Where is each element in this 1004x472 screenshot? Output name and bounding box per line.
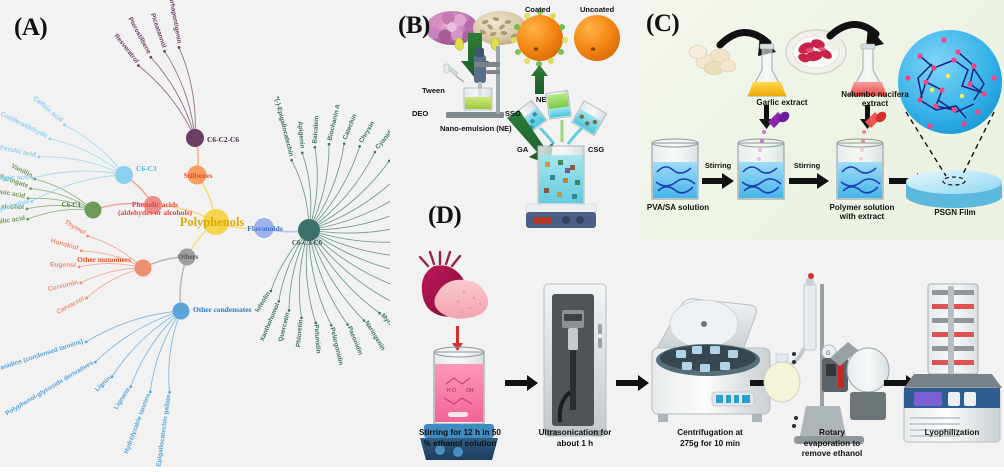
graph-leaf-label: Sinapic acid [0,174,30,182]
panel-a: (A) VanillinSyringateProtocatechuic acid… [0,0,390,467]
panel-a-graph [0,0,390,467]
label-nelumbo-extract: Nelumbo nucifera extract [826,90,924,108]
stirring-arrow-1-icon [702,173,734,189]
figure-root: (A) VanillinSyringateProtocatechuic acid… [0,0,1004,467]
panel-d: (D) [390,240,1004,467]
label-tween: Tween [422,86,445,95]
label-garlic-extract: Garlic extract [737,98,827,107]
label-ne: NE [536,95,546,104]
label-stirring-2: Stirring [788,162,826,171]
label-nano-emulsion: Nano-emulsion (NE) [440,124,512,133]
step-caption-4: Rotary evaporation to remove ethanol [780,428,884,460]
label-sso: SSO [505,109,521,118]
graph-node-label: C6-C3 [136,164,157,173]
graph-node-label: Other condensates [193,305,251,314]
nelumbo-icon [786,30,846,74]
label-pva-sa-solution: PVA/SA solution [638,203,718,212]
label-stirring-1: Stirring [699,162,737,171]
label-coated: Coated [525,5,550,14]
graph-leaf-label: Eugenol [50,262,76,269]
panel-c-tag: (C) [646,10,679,38]
graph-node-label: Phenolic acids (aldehydes or alcohols) [118,201,192,217]
label-polymer-solution: Polymer solution with extract [818,203,906,221]
garlic-mix-beaker-icon [738,139,784,199]
psgn-film-icon [906,170,1002,208]
label-deo: DEO [412,109,428,118]
svg-text:H O: H O [447,388,456,394]
uncoated-fruit-icon [574,15,620,61]
ne-beaker-icon [546,90,571,119]
step-caption-1: Stirring for 12 h in 50 % ethanol soluti… [396,428,524,449]
step-arrow-1-icon [505,375,538,391]
panel-b-tag: (B) [398,12,430,40]
graph-node-label: C6-C1 [62,201,81,209]
rotary-evaporator-icon: G [764,273,889,444]
step-caption-5: Lyophilization [904,428,1000,439]
network-zoom-icon [898,30,1002,134]
svg-text:G: G [826,351,831,357]
label-ga: GA [517,145,528,154]
svg-text:OH: OH [466,388,474,394]
graph-node-label: C6-C3-C6 [292,239,322,247]
stirring-arrow-2-icon [789,173,829,189]
garlic-flask-icon [748,44,786,96]
graph-node-label: Other monomers [77,255,131,264]
graph-node-label: Stilbenes [183,171,212,180]
step-arrow-2-icon [616,375,649,391]
panel-c: (C) [638,0,1004,240]
label-csg: CSG [588,145,604,154]
polymer-beaker-icon [837,139,883,199]
label-psgn-film: PSGN Film [922,208,988,217]
panel-d-tag: (D) [428,202,461,230]
deo-droplet-icon [455,38,464,50]
nelumbo-flask-icon [849,44,887,96]
ne-arrow-icon [531,65,548,94]
pva-sa-beaker-icon [652,139,698,199]
graph-node-label: Others [178,253,199,261]
centrifuge-icon [652,299,770,422]
label-uncoated: Uncoated [580,5,614,14]
step-caption-3: Centrifugation at 275g for 10 min [648,428,772,449]
graph-root-label: Polyphenols [180,215,245,230]
beetroot-icon [420,252,488,319]
garlic-icon [689,46,736,75]
ultrasonicator-icon [544,284,606,436]
lyophilizer-icon [904,284,1002,442]
graph-node-label: Flavonoids [247,224,282,233]
csg-beaker-icon [572,101,607,136]
graph-node-label: C6-C2-C6 [207,135,239,144]
step-caption-2: Ultrasonication for about 1 h [514,428,636,449]
